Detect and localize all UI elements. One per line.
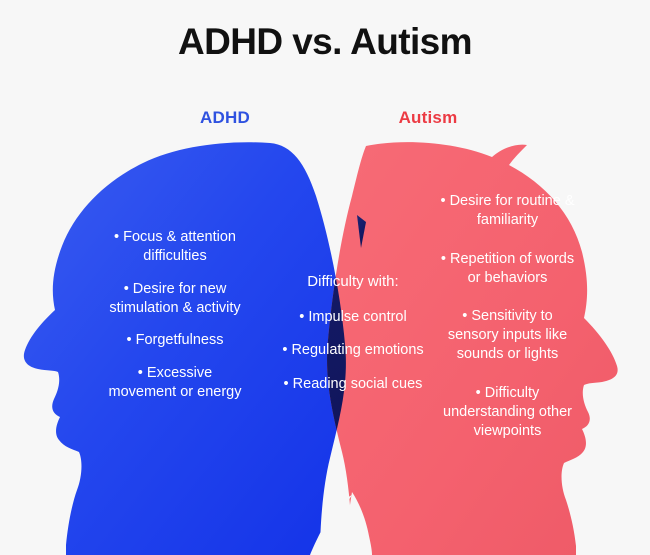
list-item: • Forgetfulness	[105, 331, 245, 350]
list-item: • Focus & attention difficulties	[105, 228, 245, 266]
infographic-container: ADHD vs. Autism ADHD Autism	[0, 0, 650, 555]
list-item: • Regulating emotions	[258, 341, 448, 360]
list-item: • Desire for routine & familiarity	[435, 192, 580, 230]
list-item: • Desire for new stimulation & activity	[105, 280, 245, 318]
list-item: • Difficulty understanding other viewpoi…	[435, 384, 580, 441]
overlap-heading: Difficulty with:	[258, 272, 448, 292]
adhd-bullet-list: • Focus & attention difficulties • Desir…	[105, 228, 245, 402]
list-item: • Repetition of words or behaviors	[435, 250, 580, 288]
list-item: • Excessive movement or energy	[105, 364, 245, 402]
overlap-bullet-list: Difficulty with: • Impulse control • Reg…	[258, 272, 448, 409]
list-item: • Reading social cues	[258, 375, 448, 394]
list-item: • Sensitivity to sensory inputs like sou…	[435, 307, 580, 364]
list-item: • Impulse control	[258, 308, 448, 327]
autism-bullet-list: • Desire for routine & familiarity • Rep…	[435, 192, 580, 460]
